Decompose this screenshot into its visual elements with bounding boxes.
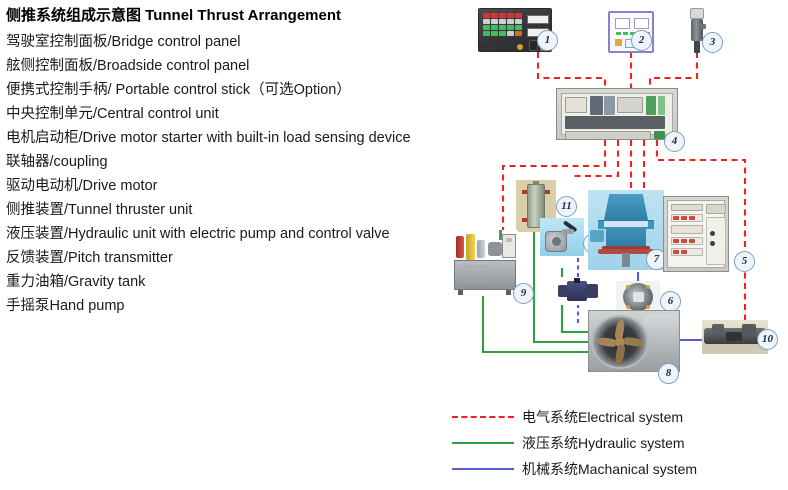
badge-portable-stick: 3 [702, 32, 723, 53]
badge-coupling: 6 [660, 291, 681, 312]
badge-hydraulic-unit: 9 [513, 283, 534, 304]
mechanical-line-icon [452, 468, 514, 470]
legend-row-electrical: 电气系统Electrical system [452, 404, 782, 430]
central-control-unit[interactable] [556, 88, 678, 140]
diagram-page: 侧推系统组成示意图 Tunnel Thrust Arrangement 驾驶室控… [0, 0, 788, 490]
legend-row-hydraulic: 液压系统Hydraulic system [452, 430, 782, 456]
coupling[interactable] [616, 281, 660, 313]
badge-motor-starter: 5 [734, 251, 755, 272]
legend-label: 电气系统Electrical system [522, 404, 683, 430]
legend-label: 机械系统Machanical system [522, 456, 697, 482]
badge-central-control-unit: 4 [664, 131, 685, 152]
badge-broadside-panel: 2 [631, 30, 652, 51]
legend-row-mechanical: 机械系统Machanical system [452, 456, 782, 482]
legend: 电气系统Electrical system 液压系统Hydraulic syst… [452, 404, 782, 482]
badge-drive-motor: 10 [757, 329, 778, 350]
motor-starter-cabinet[interactable] [663, 196, 729, 272]
badge-bridge-panel: 1 [537, 30, 558, 51]
badge-tunnel-thruster: 8 [658, 363, 679, 384]
hydraulic-unit[interactable] [452, 230, 518, 296]
badge-gravity-tank: 11 [556, 196, 577, 217]
electrical-line-icon [452, 416, 514, 418]
pitch-transmitter[interactable] [554, 277, 602, 305]
hand-pump[interactable] [540, 218, 584, 256]
hydraulic-line-icon [452, 442, 514, 444]
legend-label: 液压系统Hydraulic system [522, 430, 685, 456]
